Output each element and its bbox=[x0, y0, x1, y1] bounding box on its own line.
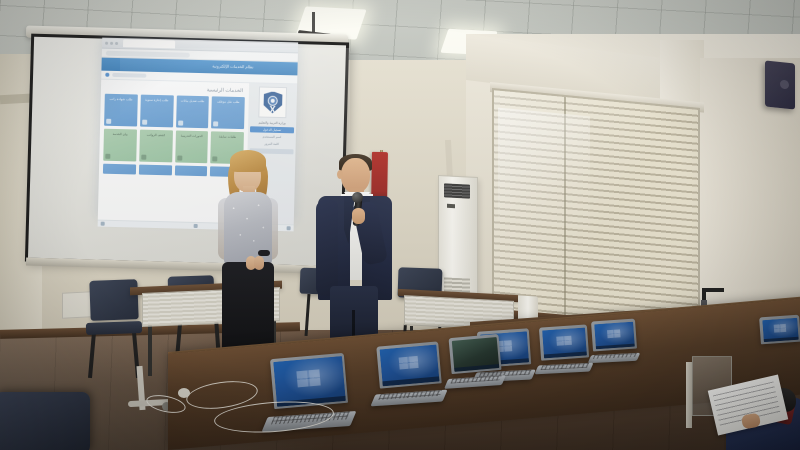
service-tile-label: طلبات سابقة bbox=[219, 135, 236, 140]
laptop-6-lid bbox=[539, 324, 589, 360]
laptop-6[interactable] bbox=[540, 326, 591, 373]
crossed-swords-icon bbox=[264, 105, 280, 112]
cable-plug bbox=[178, 388, 190, 398]
laptop-6-keyboard[interactable] bbox=[540, 363, 590, 370]
taskbar[interactable] bbox=[763, 337, 798, 342]
foreground-chair[interactable] bbox=[0, 392, 90, 450]
desk-leg bbox=[148, 322, 152, 376]
browser-close-icon[interactable] bbox=[105, 41, 108, 44]
footer-icon bbox=[287, 226, 291, 230]
service-tile[interactable]: طلب شهادة راتب bbox=[104, 94, 138, 127]
presenter-man-hand bbox=[352, 208, 365, 224]
national-emblem-icon bbox=[258, 86, 287, 118]
photo-scene: نظام الخدمات الإلكترونية الخدمات الرئيسي… bbox=[0, 0, 800, 450]
service-tile-label: طلب إجازة سنوية bbox=[145, 98, 169, 103]
laptop-1-screen[interactable] bbox=[762, 317, 798, 341]
footer-icon bbox=[101, 222, 105, 226]
laptop-4[interactable] bbox=[450, 336, 503, 387]
presenter-woman-hair-top bbox=[230, 150, 266, 172]
laptop-6-screen[interactable] bbox=[542, 327, 587, 358]
presenter-man-arm-left bbox=[316, 200, 338, 296]
document-icon bbox=[213, 121, 218, 126]
org-title: وزارة التربية والتعليم bbox=[259, 120, 286, 125]
laptop-1-lid bbox=[759, 315, 800, 345]
projected-slide: نظام الخدمات الإلكترونية الخدمات الرئيسي… bbox=[98, 38, 298, 223]
site-header-title: نظام الخدمات الإلكترونية bbox=[212, 63, 253, 69]
speaker-cone-icon bbox=[780, 80, 789, 90]
site-nav-icon bbox=[105, 73, 109, 77]
laptop-4-lid bbox=[449, 334, 502, 374]
windows-logo-icon bbox=[774, 324, 786, 332]
laptop-4-screen[interactable] bbox=[451, 337, 499, 372]
service-strip-item[interactable] bbox=[139, 165, 172, 176]
laptop-3-base bbox=[370, 390, 447, 407]
password-field-label: كلمة المرور bbox=[250, 141, 294, 146]
shield-icon bbox=[263, 91, 283, 113]
service-tile[interactable]: كشف الرواتب bbox=[139, 130, 173, 163]
service-tile-label: طلب شهادة راتب bbox=[109, 97, 132, 102]
document-icon bbox=[105, 154, 110, 159]
taskbar[interactable] bbox=[595, 343, 634, 348]
emblem-core-icon bbox=[271, 99, 275, 103]
taskbar[interactable] bbox=[454, 364, 499, 371]
service-tile[interactable]: طلب نقل موظف bbox=[211, 96, 245, 129]
laptop-3-lid bbox=[376, 341, 441, 388]
laptop-4-base bbox=[444, 375, 506, 389]
windows-logo-icon bbox=[399, 356, 419, 370]
windows-logo-icon bbox=[556, 336, 571, 347]
microphone-icon bbox=[352, 192, 363, 203]
laptop-7-keyboard[interactable] bbox=[593, 353, 637, 359]
login-button[interactable]: تسجيل الدخول bbox=[250, 127, 294, 134]
presenter-woman-bracelet bbox=[258, 250, 270, 256]
laptop-2-screen[interactable] bbox=[273, 356, 346, 407]
service-tile-label: طلب نقل موظف bbox=[217, 99, 240, 104]
laptop-3-screen[interactable] bbox=[379, 344, 439, 386]
presenter-woman-hand-right bbox=[254, 256, 264, 270]
document-icon bbox=[141, 155, 146, 160]
username-field-label: اسم المستخدم bbox=[250, 135, 294, 140]
chair-1[interactable] bbox=[89, 279, 138, 321]
chair-1-seat[interactable] bbox=[86, 321, 142, 335]
laptop-7-lid bbox=[591, 319, 637, 352]
browser-tab[interactable] bbox=[123, 39, 175, 48]
laptop-1[interactable] bbox=[760, 316, 800, 343]
login-button-label: تسجيل الدخول bbox=[263, 128, 281, 132]
url-input[interactable] bbox=[106, 50, 190, 57]
service-tile-label: بيان الخدمة bbox=[113, 132, 128, 137]
document-icon bbox=[178, 121, 183, 126]
document-icon bbox=[212, 156, 217, 161]
laptop-3[interactable] bbox=[378, 344, 444, 404]
service-tile-label: كشف الرواتب bbox=[147, 133, 166, 138]
windows-logo-icon bbox=[607, 329, 621, 338]
ac-top-grille bbox=[444, 183, 470, 198]
service-tile-strip bbox=[103, 164, 243, 177]
laptop-6-base bbox=[534, 362, 593, 374]
laptop-7[interactable] bbox=[592, 320, 638, 362]
laptop-7-screen[interactable] bbox=[594, 321, 635, 349]
partition-post bbox=[686, 362, 692, 428]
presenter-man-ear bbox=[337, 170, 343, 179]
browser-minimize-icon[interactable] bbox=[110, 41, 113, 44]
taskbar[interactable] bbox=[543, 352, 586, 358]
service-tile[interactable]: الدورات التدريبية bbox=[175, 130, 209, 163]
browser-window: نظام الخدمات الإلكترونية الخدمات الرئيسي… bbox=[98, 38, 298, 223]
browser-maximize-icon[interactable] bbox=[115, 41, 118, 44]
laptop-7-base bbox=[588, 353, 641, 364]
document-icon bbox=[177, 155, 182, 160]
service-tile[interactable]: طلب تعديل بيانات bbox=[176, 95, 210, 128]
service-tile-label: طلب تعديل بيانات bbox=[181, 99, 205, 104]
footer-icon bbox=[194, 224, 198, 228]
laptop-3-keyboard[interactable] bbox=[378, 390, 443, 400]
ac-control-panel[interactable] bbox=[447, 204, 455, 208]
site-nav-item[interactable] bbox=[112, 73, 146, 78]
service-strip-item[interactable] bbox=[174, 165, 207, 176]
document-icon bbox=[142, 120, 147, 125]
taskbar[interactable] bbox=[382, 377, 439, 386]
service-tile-label: الدورات التدريبية bbox=[181, 134, 203, 139]
service-tile[interactable]: بيان الخدمة bbox=[103, 129, 137, 162]
document-icon bbox=[106, 119, 111, 124]
lectern bbox=[62, 291, 92, 319]
glass-reflection bbox=[498, 108, 590, 229]
service-tile[interactable]: طلب إجازة سنوية bbox=[140, 95, 174, 128]
service-tile-grid: طلب شهادة راتب طلب إجازة سنوية طلب تعديل… bbox=[103, 94, 245, 164]
laptop-4-keyboard[interactable] bbox=[450, 375, 502, 384]
windows-logo-icon bbox=[296, 370, 321, 387]
service-strip-item[interactable] bbox=[103, 164, 136, 175]
